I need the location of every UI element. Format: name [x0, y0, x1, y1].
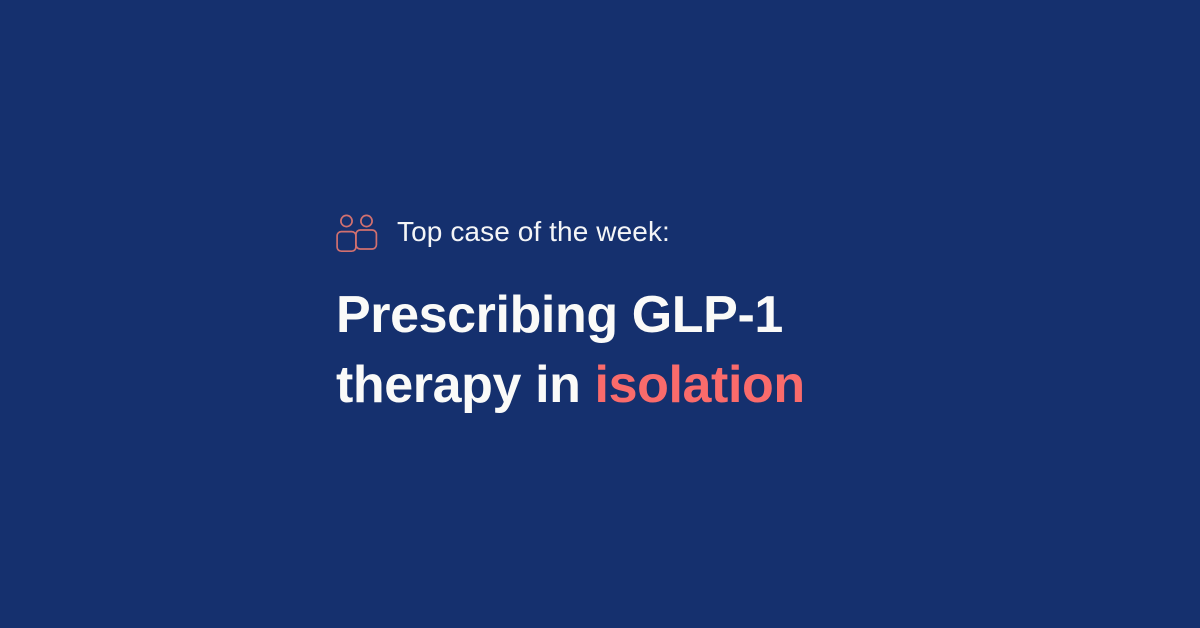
page-title: Prescribing GLP-1 therapy in isolation [336, 280, 976, 420]
two-people-icon [336, 214, 382, 253]
headline-line-2: therapy in isolation [336, 350, 976, 420]
headline-line-1: Prescribing GLP-1 [336, 280, 976, 350]
promo-card: Top case of the week: Prescribing GLP-1 … [0, 0, 1200, 628]
card-content: Top case of the week: Prescribing GLP-1 … [336, 206, 976, 420]
eyebrow: Top case of the week: [336, 206, 976, 258]
eyebrow-label: Top case of the week: [397, 218, 670, 246]
headline-accent-word: isolation [595, 356, 805, 414]
headline-line-2-prefix: therapy in [336, 356, 595, 414]
